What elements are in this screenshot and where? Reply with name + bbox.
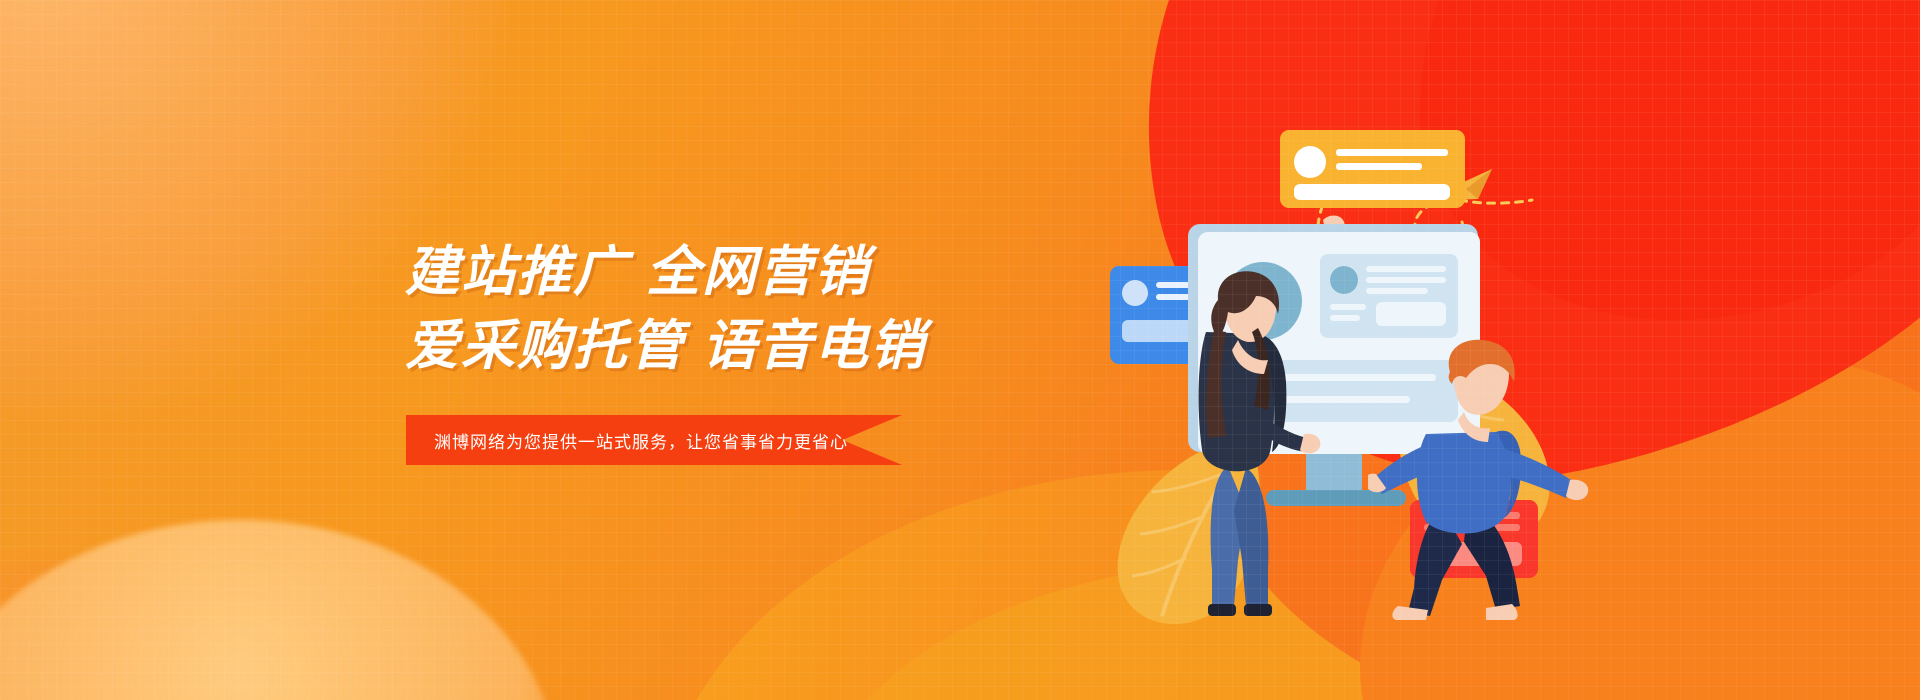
tagline-text: 渊博网络为您提供一站式服务，让您省事省力更省心	[406, 415, 902, 465]
card-line	[1336, 149, 1448, 156]
headline-line-2: 爱采购托管 语音电销	[405, 312, 1165, 380]
headline-line-1: 建站推广 全网营销	[405, 238, 1165, 306]
background-glow-bottom-left	[0, 520, 560, 700]
panel-line	[1366, 277, 1446, 283]
person-man-ginger	[1368, 338, 1608, 628]
panel-avatar	[1330, 266, 1358, 294]
panel-line	[1330, 304, 1366, 310]
card-avatar	[1294, 146, 1326, 178]
promo-banner: 建站推广 全网营销 爱采购托管 语音电销 渊博网络为您提供一站式服务，让您省事省…	[0, 0, 1920, 700]
panel-line	[1366, 288, 1428, 294]
panel-line	[1330, 315, 1360, 321]
hero-illustration	[1110, 120, 1830, 700]
screen-panel	[1320, 254, 1458, 338]
headline-block: 建站推广 全网营销 爱采购托管 语音电销	[405, 238, 1165, 380]
person-woman-standing	[1172, 270, 1322, 630]
panel-line	[1366, 266, 1446, 272]
panel-block	[1376, 302, 1446, 326]
card-line	[1336, 163, 1422, 170]
